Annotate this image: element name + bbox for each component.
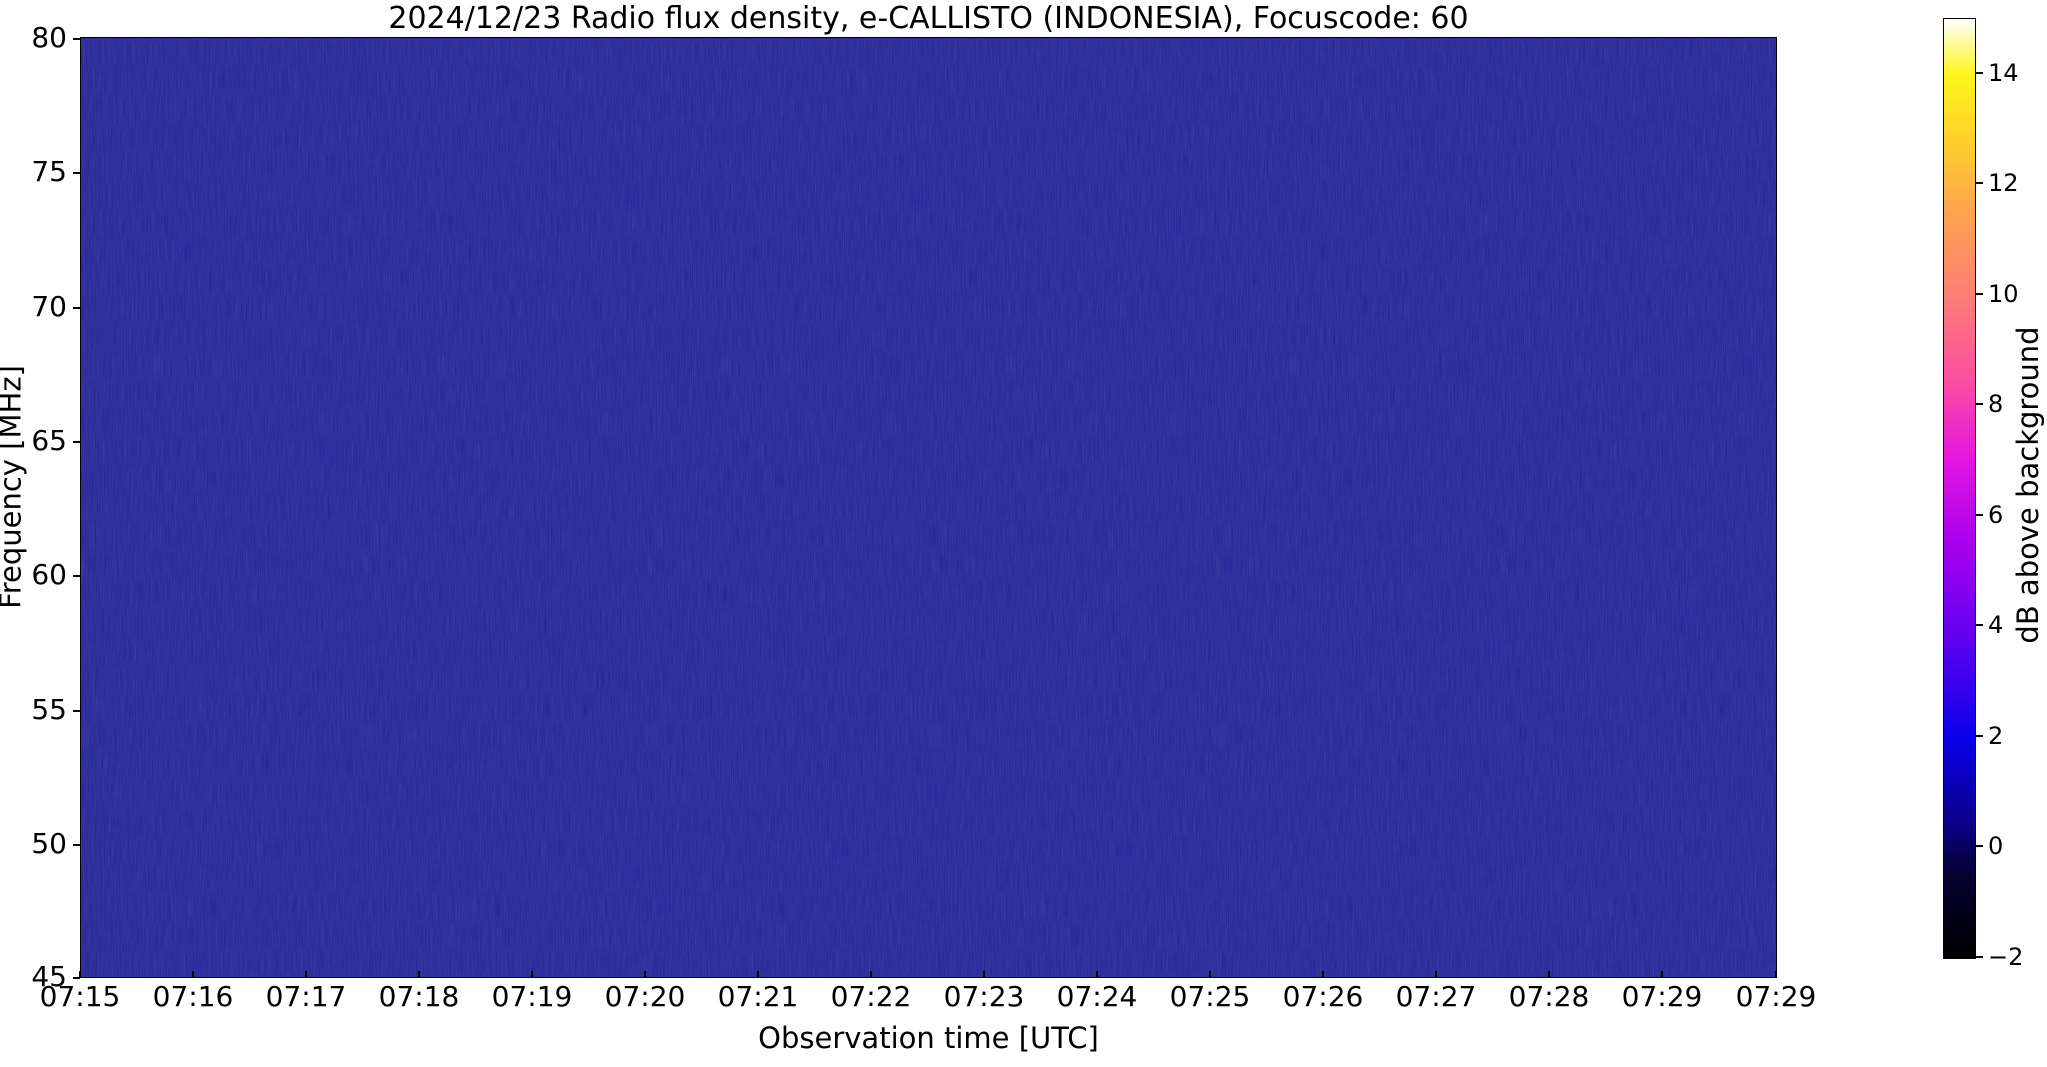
x-tick-label: 07:20	[585, 980, 705, 1014]
x-tick-label: 07:21	[698, 980, 818, 1014]
x-tick-mark	[192, 971, 194, 978]
x-tick-mark	[983, 971, 985, 978]
y-tick-label: 60	[31, 559, 67, 591]
x-tick-label: 07:22	[811, 980, 931, 1014]
colorbar-tick-mark	[1976, 403, 1983, 405]
x-axis-label: Observation time [UTC]	[80, 1021, 1777, 1055]
colorbar-gradient-image	[1944, 19, 1975, 958]
x-tick-label: 07:25	[1150, 980, 1270, 1014]
y-tick-label: 55	[31, 694, 67, 726]
y-tick-label: 80	[31, 22, 67, 54]
x-tick-label: 07:28	[1489, 980, 1609, 1014]
x-tick-label: 07:27	[1376, 980, 1496, 1014]
x-tick-mark	[644, 971, 646, 978]
colorbar-tick-mark	[1976, 956, 1983, 958]
y-tick-mark	[73, 844, 80, 846]
colorbar-tick-label: 8	[1988, 390, 2003, 418]
colorbar-tick-label: −2	[1988, 943, 2023, 971]
x-tick-mark	[1435, 971, 1437, 978]
colorbar-tick-mark	[1976, 624, 1983, 626]
x-tick-mark	[870, 971, 872, 978]
spectrogram-heatmap-image	[81, 38, 1776, 977]
x-tick-label: 07:17	[246, 980, 366, 1014]
x-tick-mark	[1322, 971, 1324, 978]
x-tick-label: 07:29	[1716, 980, 1836, 1014]
x-tick-mark	[305, 971, 307, 978]
x-tick-label: 07:24	[1037, 980, 1157, 1014]
y-axis-label: Frequency [MHz]	[0, 17, 28, 958]
x-tick-mark	[79, 971, 81, 978]
colorbar-tick-label: 2	[1988, 722, 2003, 750]
x-tick-label: 07:29	[1602, 980, 1722, 1014]
x-tick-label: 07:18	[359, 980, 479, 1014]
colorbar[interactable]	[1943, 18, 1976, 959]
y-tick-mark	[73, 575, 80, 577]
x-tick-mark	[1775, 971, 1777, 978]
colorbar-tick-label: 0	[1988, 832, 2003, 860]
colorbar-tick-mark	[1976, 182, 1983, 184]
x-tick-mark	[1096, 971, 1098, 978]
x-tick-label: 07:15	[20, 980, 140, 1014]
x-tick-mark	[1548, 971, 1550, 978]
x-tick-mark	[1661, 971, 1663, 978]
x-tick-mark	[1209, 971, 1211, 978]
y-tick-mark	[73, 172, 80, 174]
y-tick-mark	[73, 307, 80, 309]
x-tick-mark	[418, 971, 420, 978]
colorbar-tick-mark	[1976, 514, 1983, 516]
colorbar-tick-mark	[1976, 72, 1983, 74]
page-title: 2024/12/23 Radio flux density, e-CALLIST…	[80, 2, 1777, 35]
colorbar-tick-label: 4	[1988, 611, 2003, 639]
y-tick-mark	[73, 441, 80, 443]
y-tick-label: 65	[31, 425, 67, 457]
colorbar-tick-label: 6	[1988, 501, 2003, 529]
y-tick-label: 50	[31, 828, 67, 860]
x-tick-label: 07:16	[133, 980, 253, 1014]
x-tick-label: 07:26	[1263, 980, 1383, 1014]
y-tick-label: 75	[31, 156, 67, 188]
x-tick-label: 07:23	[924, 980, 1044, 1014]
colorbar-tick-mark	[1976, 735, 1983, 737]
x-tick-mark	[531, 971, 533, 978]
spectrogram-plot-area[interactable]	[80, 37, 1777, 978]
colorbar-tick-mark	[1976, 845, 1983, 847]
y-tick-mark	[73, 710, 80, 712]
spectrogram-figure: 2024/12/23 Radio flux density, e-CALLIST…	[0, 0, 2047, 1067]
y-tick-label: 70	[31, 291, 67, 323]
y-tick-mark	[73, 38, 80, 40]
colorbar-label: dB above background	[2011, 35, 2045, 935]
x-tick-mark	[757, 971, 759, 978]
colorbar-tick-mark	[1976, 293, 1983, 295]
x-tick-label: 07:19	[472, 980, 592, 1014]
